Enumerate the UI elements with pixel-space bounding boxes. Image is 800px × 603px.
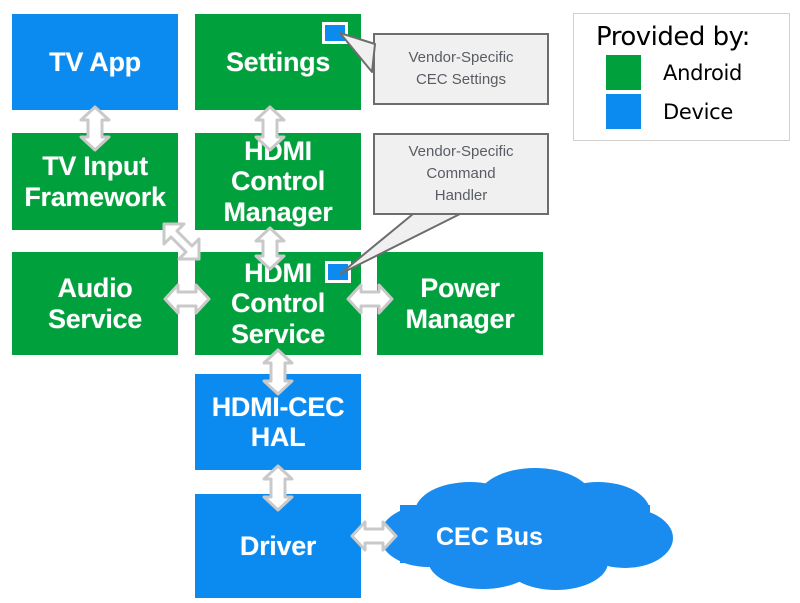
- node-power-manager-label: PowerManager: [400, 273, 521, 333]
- node-hdmi-control-manager-line2: Control: [231, 166, 325, 196]
- node-tv-input-framework[interactable]: TV InputFramework: [12, 133, 178, 230]
- legend-item-device: Device: [606, 94, 789, 129]
- node-audio-service-line2: Service: [48, 304, 142, 334]
- node-power-manager[interactable]: PowerManager: [377, 252, 543, 355]
- node-power-manager-line2: Manager: [406, 304, 515, 334]
- node-tv-app-label: TV App: [43, 47, 147, 77]
- callout-vendor-command-handler-text: Vendor-SpecificCommandHandler: [398, 141, 523, 206]
- node-hdmi-control-service[interactable]: HDMIControlService: [195, 252, 361, 355]
- node-hdmi-control-service-line2: Control: [231, 288, 325, 318]
- node-tv-input-framework-line2: Framework: [24, 182, 165, 212]
- node-hdmi-cec-hal-label: HDMI-CECHAL: [206, 392, 351, 452]
- node-hdmi-cec-hal[interactable]: HDMI-CECHAL: [195, 374, 361, 470]
- node-hdmi-control-manager-label: HDMIControlManager: [218, 136, 339, 227]
- node-power-manager-line1: Power: [420, 273, 500, 303]
- node-tv-app[interactable]: TV App: [12, 14, 178, 110]
- node-hdmi-control-manager[interactable]: HDMIControlManager: [195, 133, 361, 230]
- node-hdmi-control-service-line1: HDMI: [244, 258, 312, 288]
- node-tv-input-framework-line1: TV Input: [42, 151, 148, 181]
- vendor-badge-hdmi-control-service[interactable]: [325, 261, 351, 283]
- cec-architecture-diagram: CEC Bus TV App Settings TV InputFramewor…: [0, 0, 800, 603]
- callout-command-handler-line2: Command: [426, 165, 495, 182]
- cec-bus-label: CEC Bus: [436, 523, 543, 552]
- node-settings-label: Settings: [220, 47, 336, 77]
- node-settings[interactable]: Settings: [195, 14, 361, 110]
- callout-vendor-cec-settings-text: Vendor-SpecificCEC Settings: [398, 47, 523, 91]
- legend-panel: Provided by: Android Device: [573, 13, 790, 141]
- vendor-badge-settings[interactable]: [322, 22, 348, 44]
- node-audio-service[interactable]: AudioService: [12, 252, 178, 355]
- legend-title: Provided by:: [596, 24, 789, 51]
- node-tv-input-framework-label: TV InputFramework: [18, 151, 171, 211]
- callout-cec-settings-line2: CEC Settings: [416, 71, 506, 88]
- node-hdmi-control-manager-line3: Manager: [224, 197, 333, 227]
- callout-vendor-cec-settings[interactable]: Vendor-SpecificCEC Settings: [373, 33, 549, 105]
- legend-swatch-android: [606, 55, 641, 90]
- node-driver[interactable]: Driver: [195, 494, 361, 598]
- node-hdmi-control-service-line3: Service: [231, 319, 325, 349]
- node-driver-label: Driver: [234, 531, 322, 561]
- legend-swatch-device: [606, 94, 641, 129]
- node-hdmi-control-service-label: HDMIControlService: [225, 258, 331, 349]
- callout-vendor-command-handler[interactable]: Vendor-SpecificCommandHandler: [373, 133, 549, 215]
- legend-item-android: Android: [606, 55, 789, 90]
- node-hdmi-cec-hal-line2: HAL: [251, 422, 306, 452]
- node-audio-service-line1: Audio: [58, 273, 133, 303]
- callout-command-handler-line1: Vendor-Specific: [408, 143, 513, 160]
- node-hdmi-cec-hal-line1: HDMI-CEC: [212, 392, 345, 422]
- callout-command-handler-line3: Handler: [435, 187, 488, 204]
- node-hdmi-control-manager-line1: HDMI: [244, 136, 312, 166]
- callout-cec-settings-line1: Vendor-Specific: [408, 49, 513, 66]
- legend-label-android: Android: [663, 61, 742, 85]
- node-audio-service-label: AudioService: [42, 273, 148, 333]
- legend-label-device: Device: [663, 100, 733, 124]
